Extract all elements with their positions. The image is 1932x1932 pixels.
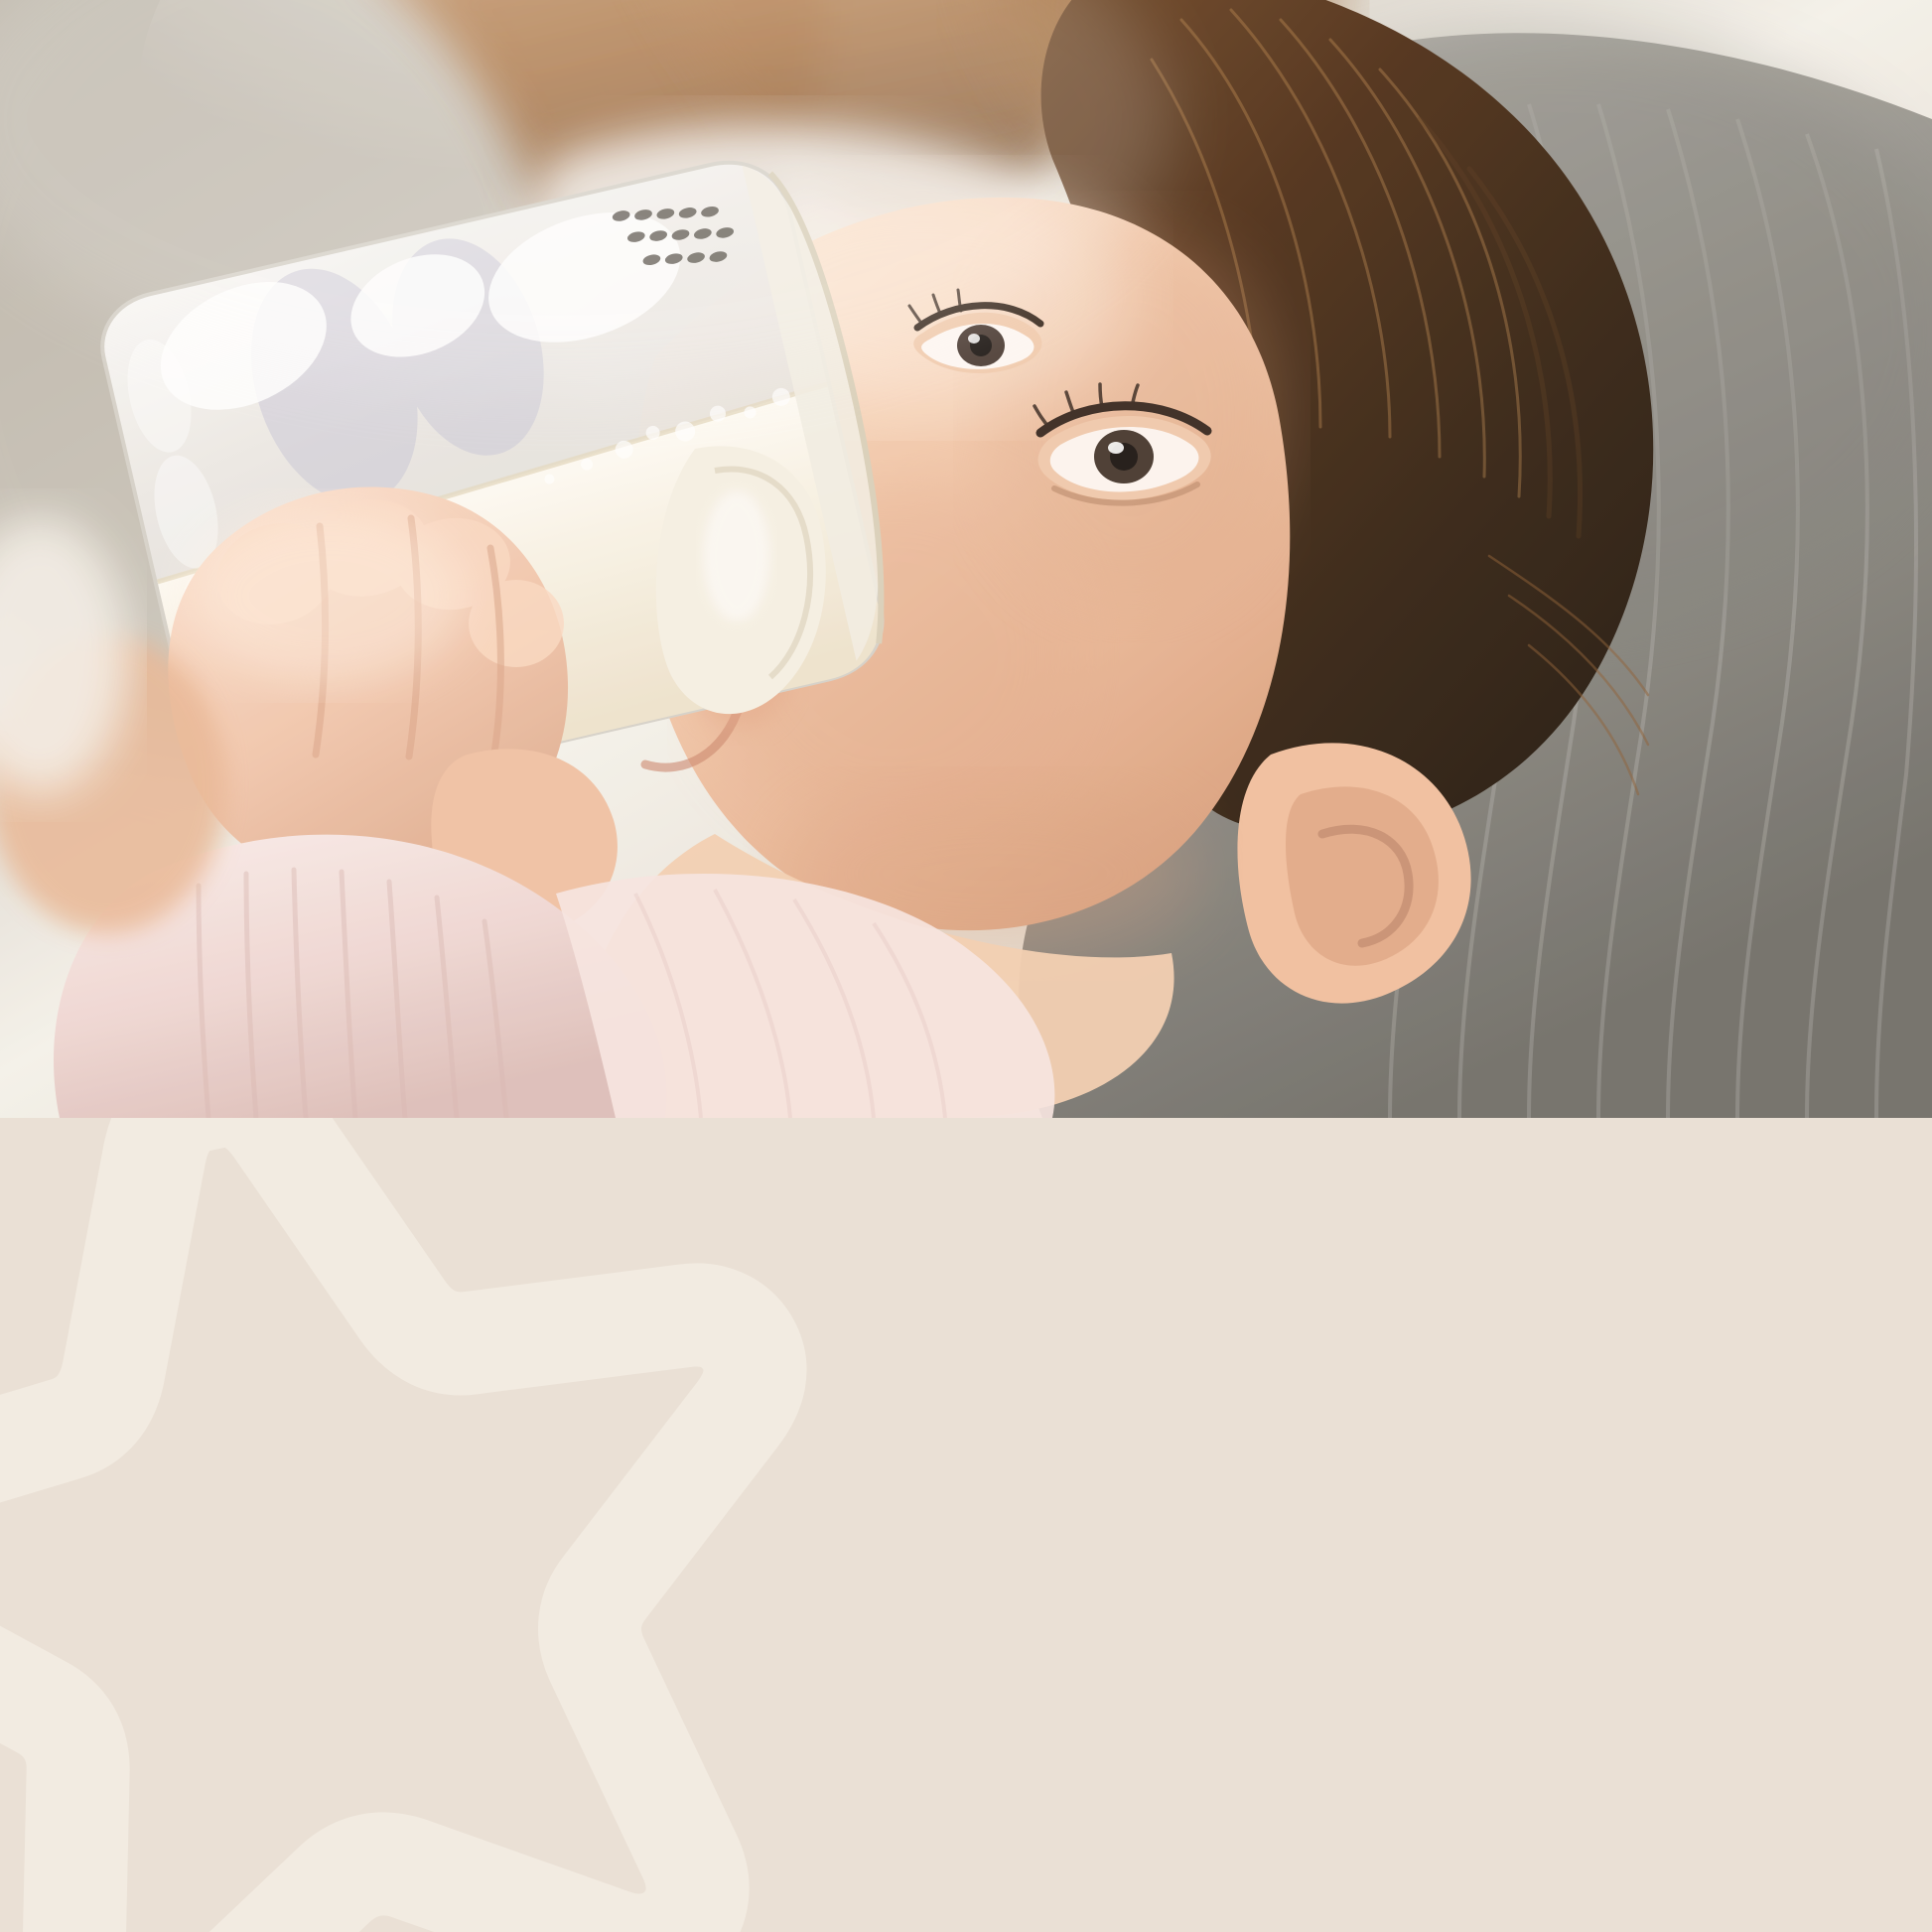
hero-photo-illustration xyxy=(0,0,1932,1118)
copy-panel: Natural latch & pace The soft silicone n… xyxy=(0,1118,1932,1932)
star-watermark xyxy=(0,1118,1932,1932)
hero-photo xyxy=(0,0,1932,1118)
ad-card: Natural latch & pace The soft silicone n… xyxy=(0,0,1932,1932)
star-watermark-icon xyxy=(0,1118,1932,1932)
